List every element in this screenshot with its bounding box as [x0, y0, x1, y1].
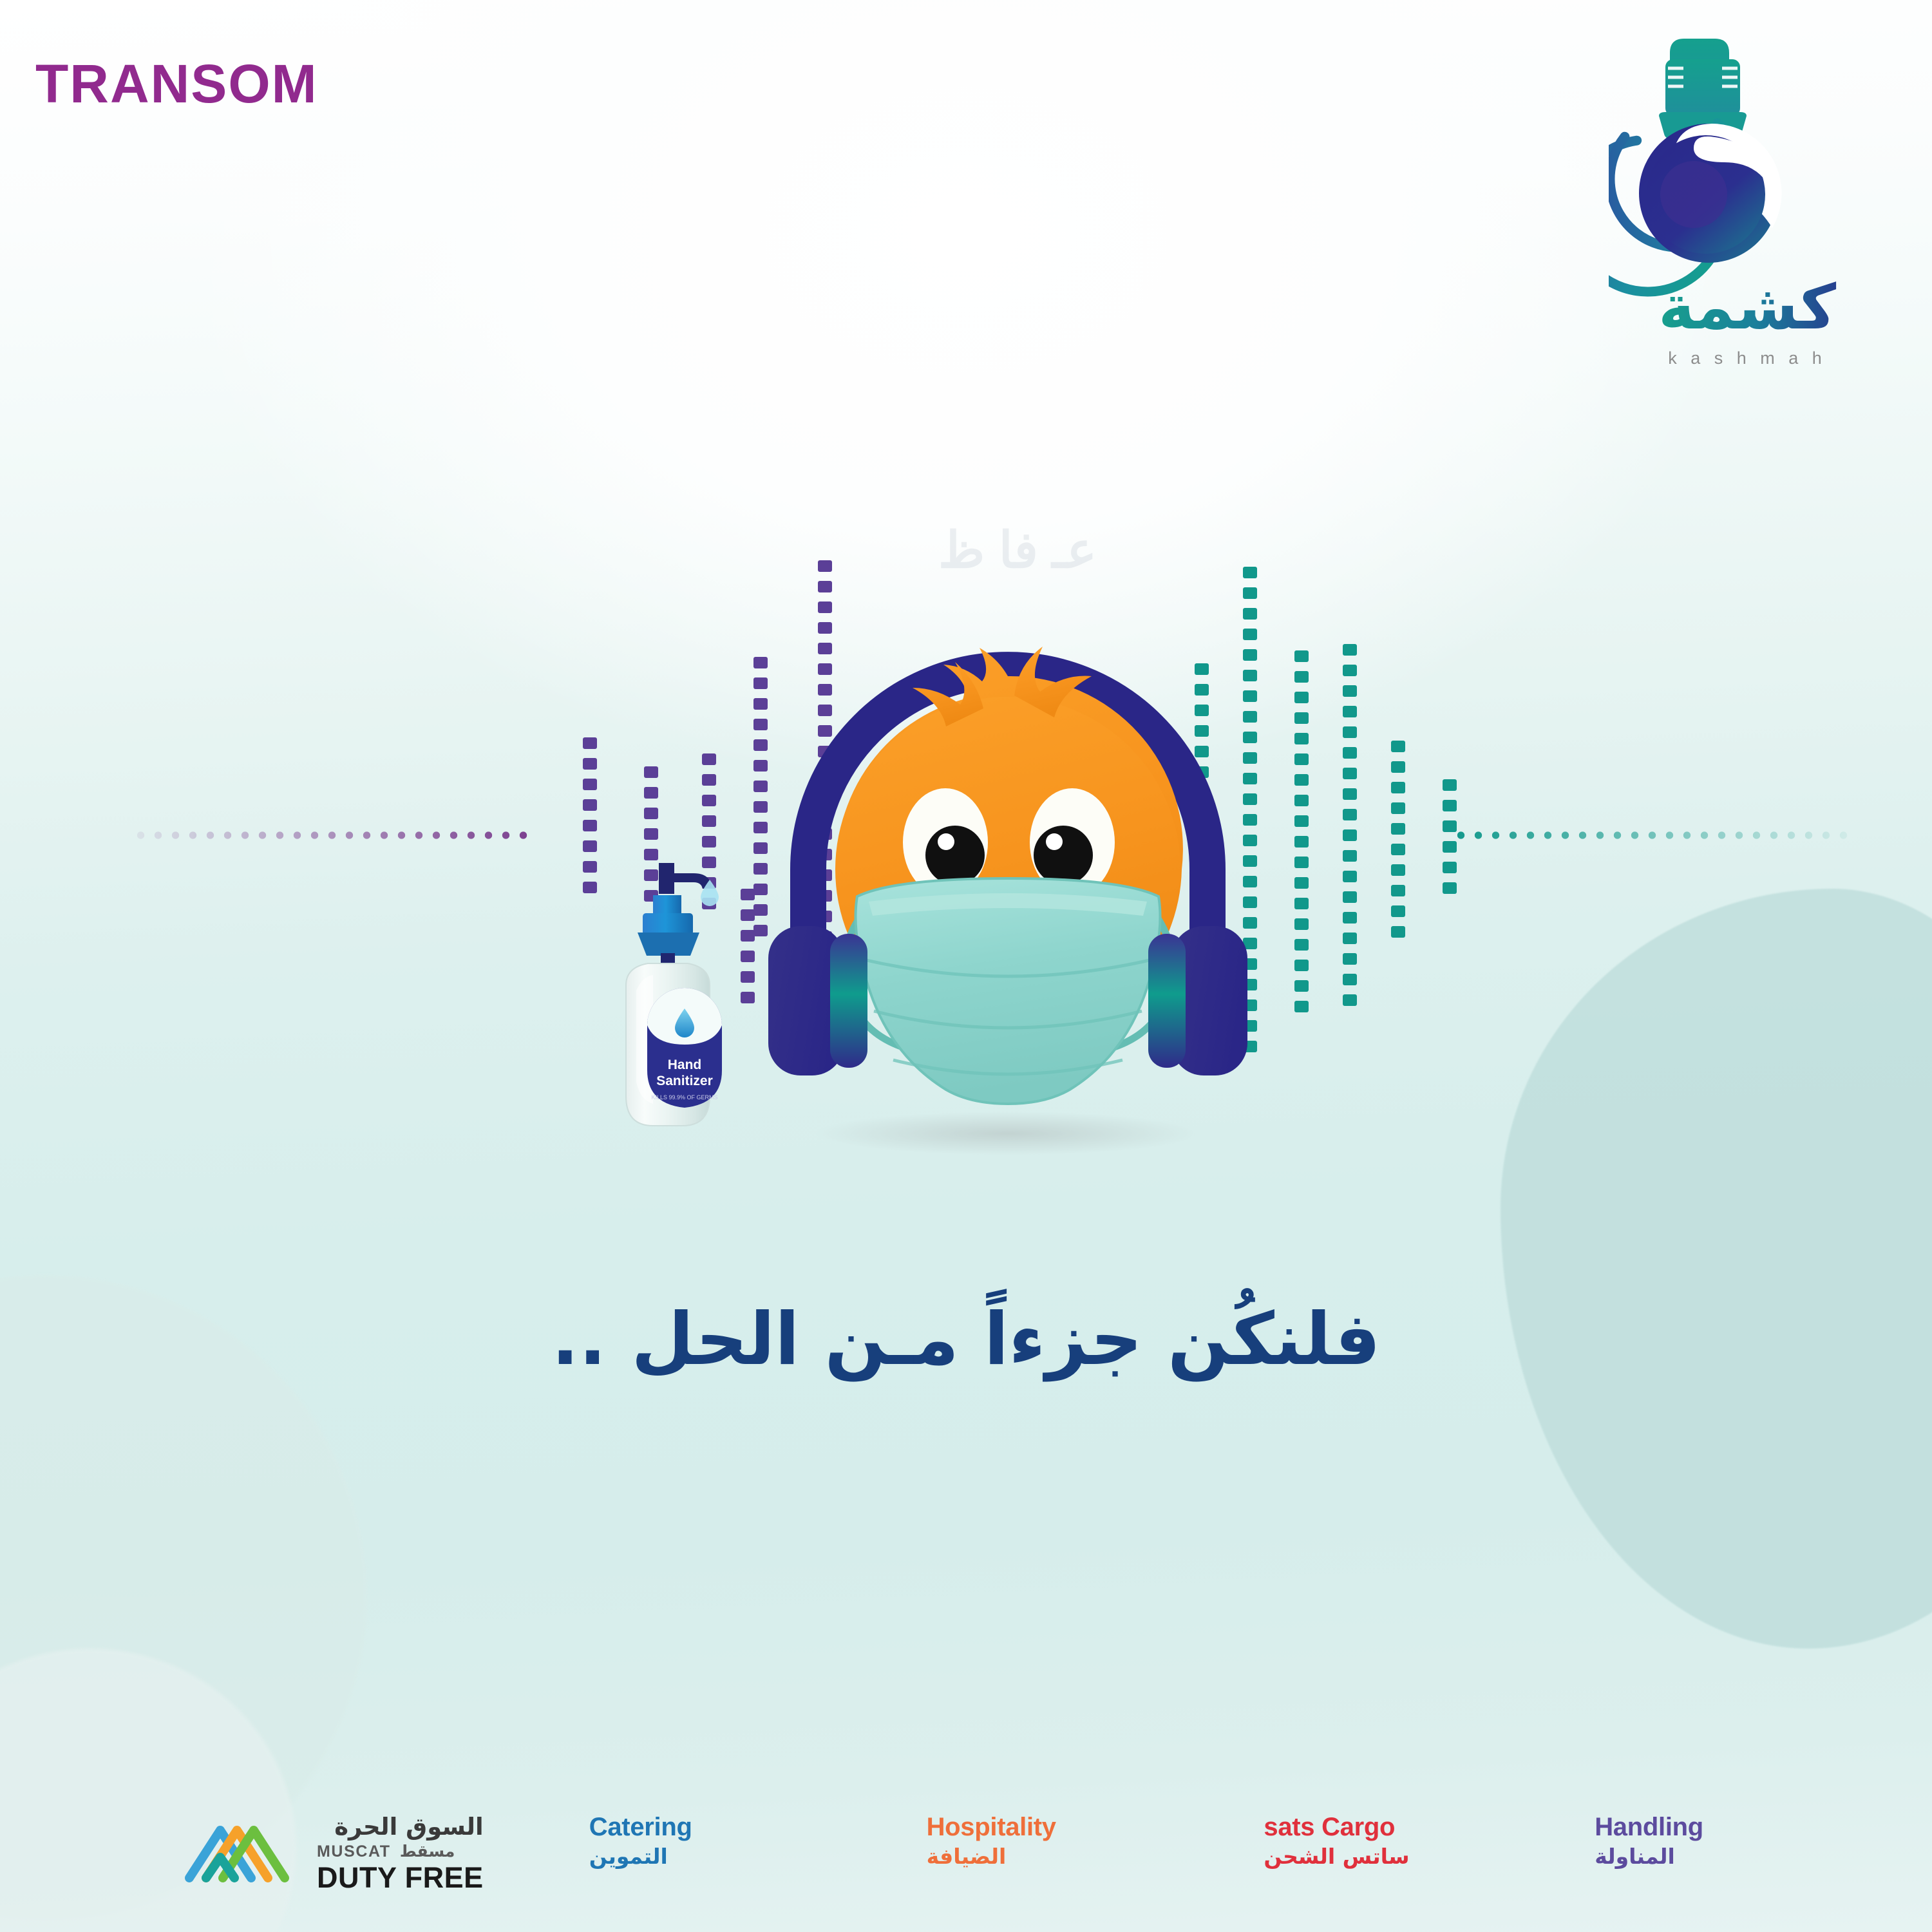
soundwave-segment	[583, 758, 597, 770]
masked-mascot	[731, 599, 1285, 1166]
soundwave-segment	[818, 581, 832, 592]
duty-free-muscat-en: MUSCAT	[317, 1844, 391, 1860]
background-blob-right	[1501, 889, 1932, 1649]
soundwave-segment	[644, 787, 658, 799]
soundwave-segment	[583, 799, 597, 811]
soundwave-segment	[1343, 665, 1357, 676]
hand-sanitizer-bottle: Hand Sanitizer KILLS 99.9% OF GERMS	[599, 857, 773, 1159]
soundwave-segment	[583, 820, 597, 831]
soundwave-segment	[1294, 733, 1309, 744]
duty-free-muscat-line: MUSCAT مسقط	[317, 1843, 484, 1860]
partner-handling: Handling المناولة	[1524, 1814, 1855, 1868]
footer-partners: السوق الحرة MUSCAT مسقط DUTY FREE Cateri…	[0, 1814, 1932, 1892]
soundwave-segment	[644, 828, 658, 840]
soundwave-segment	[1443, 882, 1457, 894]
handling-label-ar: المناولة	[1595, 1846, 1675, 1868]
sanitizer-title-line2: Sanitizer	[656, 1074, 713, 1088]
soundwave-segment	[1343, 850, 1357, 862]
background-watermark: عـ فا ظ	[889, 522, 1146, 580]
soundwave-segment	[702, 815, 716, 827]
soundwave-segment	[644, 766, 658, 778]
soundwave-segment	[583, 737, 597, 749]
soundwave-segment	[1391, 802, 1405, 814]
soundwave-segment	[1343, 994, 1357, 1006]
soundwave-segment	[1343, 974, 1357, 985]
soundwave-segment	[1294, 671, 1309, 683]
kashmah-latin-text: k a s h m a h	[1668, 348, 1826, 368]
cargo-label-en: sats Cargo	[1264, 1814, 1395, 1841]
soundwave-segment	[818, 560, 832, 572]
soundwave-segment	[702, 795, 716, 806]
dotted-line-right	[1452, 829, 1851, 841]
soundwave-segment	[583, 882, 597, 893]
soundwave-column-teal-4	[1391, 741, 1405, 947]
hospitality-label-en: Hospitality	[927, 1814, 1056, 1841]
duty-free-title: DUTY FREE	[317, 1863, 484, 1892]
headline-text: فلنكُن جزءاً مـن الحل ..	[0, 1298, 1932, 1381]
handling-label-en: Handling	[1595, 1814, 1703, 1841]
partner-muscat-duty-free: السوق الحرة MUSCAT مسقط DUTY FREE	[77, 1814, 506, 1892]
sanitizer-title-line1: Hand	[668, 1057, 702, 1072]
transom-wordmark: TRANSOM	[35, 57, 318, 111]
soundwave-segment	[1343, 953, 1357, 965]
partner-sats-cargo: sats Cargo ساتس الشحن	[1186, 1814, 1524, 1868]
soundwave-segment	[1391, 782, 1405, 793]
soundwave-segment	[1343, 871, 1357, 882]
soundwave-segment	[1294, 753, 1309, 765]
kashmah-logo: كشمة k a s h m a h	[1609, 26, 1886, 393]
soundwave-segment	[1391, 864, 1405, 876]
sanitizer-subtitle: KILLS 99.9% OF GERMS	[651, 1094, 717, 1101]
partner-hospitality: Hospitality الضيافة	[849, 1814, 1187, 1868]
soundwave-segment	[1443, 841, 1457, 853]
soundwave-segment	[1443, 820, 1457, 832]
soundwave-segment	[1294, 815, 1309, 827]
hand-sanitizer-svg: Hand Sanitizer KILLS 99.9% OF GERMS	[599, 857, 773, 1159]
cargo-label-ar: ساتس الشحن	[1264, 1846, 1409, 1868]
soundwave-segment	[1243, 567, 1257, 578]
soundwave-column-teal-5	[1443, 779, 1457, 903]
soundwave-segment	[1391, 844, 1405, 855]
soundwave-column-teal-3	[1343, 644, 1357, 1015]
soundwave-segment	[1294, 650, 1309, 662]
soundwave-segment	[1294, 918, 1309, 930]
partner-catering: Catering التموين	[506, 1814, 849, 1868]
soundwave-segment	[1294, 898, 1309, 909]
soundwave-segment	[1294, 857, 1309, 868]
mascot-svg	[731, 599, 1285, 1166]
soundwave-segment	[583, 840, 597, 852]
soundwave-segment	[702, 836, 716, 848]
soundwave-segment	[1294, 877, 1309, 889]
soundwave-segment	[1343, 891, 1357, 903]
hospitality-label-ar: الضيافة	[927, 1846, 1007, 1868]
soundwave-segment	[1391, 761, 1405, 773]
soundwave-segment	[1294, 692, 1309, 703]
duty-free-muscat-ar: مسقط	[400, 1843, 455, 1859]
soundwave-segment	[1243, 587, 1257, 599]
soundwave-segment	[644, 808, 658, 819]
soundwave-segment	[1391, 926, 1405, 938]
duty-free-arabic: السوق الحرة	[317, 1815, 484, 1839]
sanitizer-label: Hand Sanitizer KILLS 99.9% OF GERMS	[647, 988, 722, 1108]
poster-canvas: TRANSOM	[0, 0, 1932, 1932]
soundwave-segment	[1343, 829, 1357, 841]
dotted-line-left	[132, 829, 531, 841]
soundwave-segment	[1443, 800, 1457, 811]
soundwave-segment	[1343, 747, 1357, 759]
soundwave-segment	[1391, 905, 1405, 917]
soundwave-segment	[1343, 933, 1357, 944]
soundwave-segment	[1343, 685, 1357, 697]
logo-swirl	[1639, 124, 1781, 263]
soundwave-segment	[1343, 644, 1357, 656]
soundwave-segment	[1391, 885, 1405, 896]
soundwave-segment	[583, 861, 597, 873]
soundwave-segment	[1391, 823, 1405, 835]
soundwave-segment	[1294, 1001, 1309, 1012]
mascot-shadow	[815, 1112, 1201, 1155]
soundwave-segment	[1343, 768, 1357, 779]
soundwave-segment	[1343, 788, 1357, 800]
soundwave-segment	[1391, 741, 1405, 752]
soundwave-segment	[1294, 774, 1309, 786]
soundwave-segment	[1443, 779, 1457, 791]
kashmah-logo-svg: كشمة k a s h m a h	[1609, 26, 1886, 393]
catering-label-en: Catering	[589, 1814, 692, 1841]
soundwave-segment	[1343, 809, 1357, 820]
soundwave-column-purple-0	[583, 737, 597, 902]
soundwave-segment	[1294, 795, 1309, 806]
surgical-mask	[856, 878, 1160, 1104]
soundwave-segment	[1343, 726, 1357, 738]
soundwave-segment	[1343, 706, 1357, 717]
soundwave-segment	[1294, 939, 1309, 951]
soundwave-segment	[702, 774, 716, 786]
soundwave-segment	[1294, 960, 1309, 971]
soundwave-segment	[1294, 836, 1309, 848]
soundwave-segment	[1343, 912, 1357, 923]
soundwave-segment	[583, 779, 597, 790]
soundwave-segment	[1294, 980, 1309, 992]
soundwave-segment	[1443, 862, 1457, 873]
duty-free-mountains-icon	[180, 1814, 303, 1891]
soundwave-segment	[1294, 712, 1309, 724]
kashmah-arabic-text: كشمة	[1658, 271, 1836, 343]
soundwave-column-teal-2	[1294, 650, 1309, 1021]
catering-label-ar: التموين	[589, 1846, 668, 1868]
soundwave-segment	[702, 753, 716, 765]
